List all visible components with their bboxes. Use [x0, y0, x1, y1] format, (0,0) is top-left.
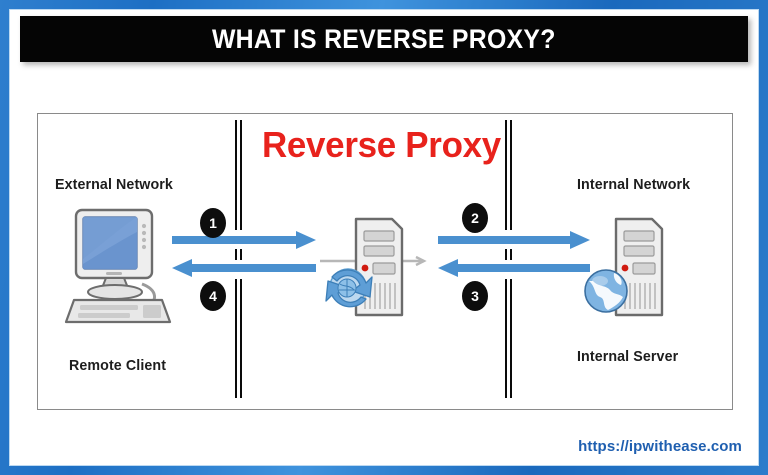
source-url[interactable]: https://ipwithease.com [578, 438, 742, 455]
internal-boundary-line-lower [505, 279, 512, 398]
title-banner: WHAT IS REVERSE PROXY? [20, 16, 748, 62]
label-external-network: External Network [55, 176, 173, 193]
flow-arrow-1 [172, 231, 316, 249]
internal-boundary-line-upper [505, 120, 512, 230]
diagram-heading: Reverse Proxy [262, 124, 501, 166]
step-badge-2: 2 [462, 203, 488, 233]
flow-arrow-3 [438, 259, 590, 277]
external-boundary-line-lower [235, 279, 242, 398]
desktop-computer-icon [62, 204, 180, 326]
label-remote-client: Remote Client [69, 357, 166, 374]
page-title: WHAT IS REVERSE PROXY? [212, 24, 556, 55]
diagram-page: WHAT IS REVERSE PROXY? Reverse Proxy Ext… [0, 0, 768, 475]
proxy-server-icon [320, 211, 428, 323]
web-server-icon [580, 211, 688, 323]
flow-arrow-4 [172, 259, 316, 277]
external-boundary-line-upper [235, 120, 242, 230]
label-internal-network: Internal Network [577, 176, 690, 193]
step-badge-4: 4 [200, 281, 226, 311]
flow-arrow-2 [438, 231, 590, 249]
globe-icon [585, 270, 627, 312]
label-internal-server: Internal Server [577, 348, 678, 365]
step-badge-3: 3 [462, 281, 488, 311]
step-badge-1: 1 [200, 208, 226, 238]
